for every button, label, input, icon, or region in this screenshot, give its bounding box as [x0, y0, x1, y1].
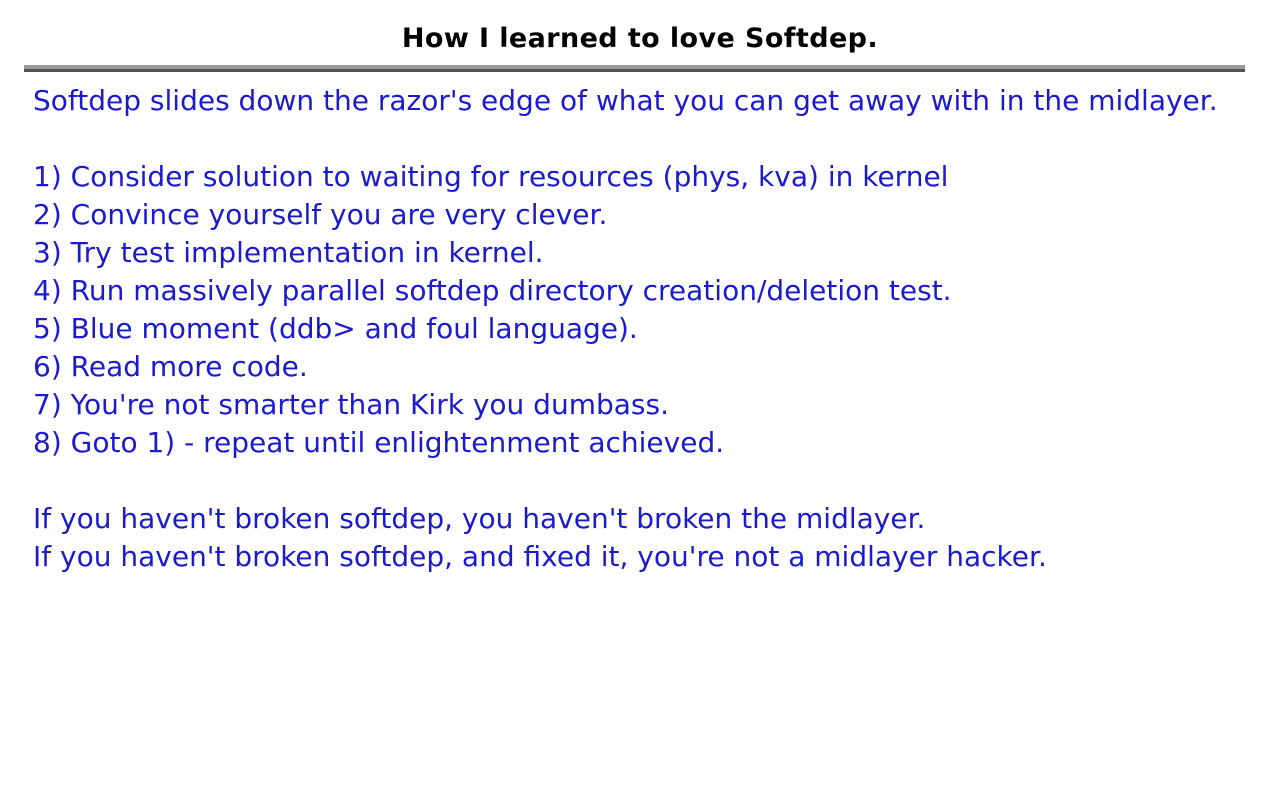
- intro-paragraph: Softdep slides down the razor's edge of …: [33, 82, 1248, 120]
- list-item: 3) Try test implementation in kernel.: [33, 234, 1255, 272]
- title-divider: [24, 65, 1245, 72]
- body-spacer-bottom: [33, 462, 1255, 500]
- list-item: 8) Goto 1) - repeat until enlightenment …: [33, 424, 1255, 462]
- body-spacer-top: [33, 120, 1255, 158]
- list-item: 7) You're not smarter than Kirk you dumb…: [33, 386, 1255, 424]
- page-title: How I learned to love Softdep.: [0, 22, 1280, 56]
- list-item: 1) Consider solution to waiting for reso…: [33, 158, 1255, 196]
- slide-body: Softdep slides down the razor's edge of …: [33, 82, 1255, 576]
- list-item: 5) Blue moment (ddb> and foul language).: [33, 310, 1255, 348]
- list-item: 6) Read more code.: [33, 348, 1255, 386]
- closing-line: If you haven't broken softdep, you haven…: [33, 500, 1255, 538]
- list-item: 2) Convince yourself you are very clever…: [33, 196, 1255, 234]
- divider-dark-band: [24, 69, 1245, 72]
- slide-canvas: How I learned to love Softdep. Softdep s…: [0, 0, 1280, 800]
- steps-list: 1) Consider solution to waiting for reso…: [33, 158, 1255, 462]
- closing-paragraph: If you haven't broken softdep, you haven…: [33, 500, 1255, 576]
- closing-line: If you haven't broken softdep, and fixed…: [33, 538, 1255, 576]
- list-item: 4) Run massively parallel softdep direct…: [33, 272, 1255, 310]
